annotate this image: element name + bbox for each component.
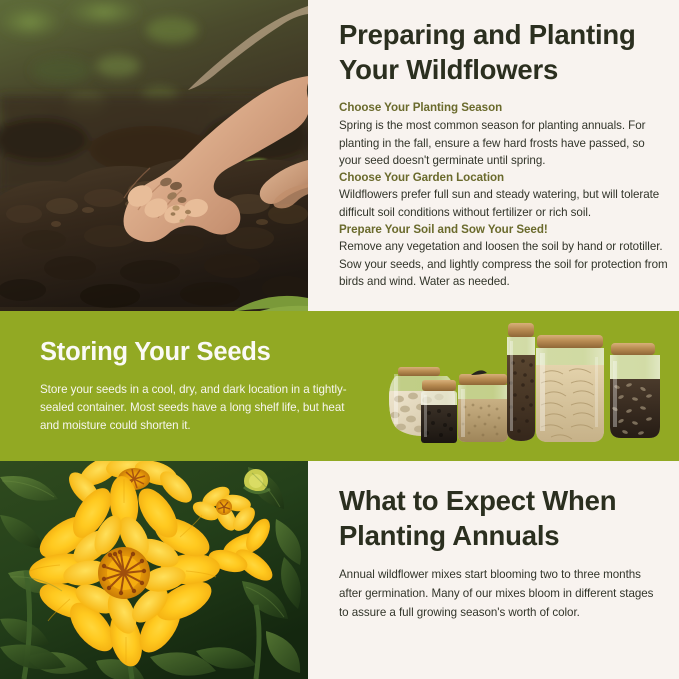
- jar-sunflower-seeds: [610, 343, 660, 443]
- body-planting-season: Spring is the most common season for pla…: [339, 117, 669, 170]
- jar-black-seeds: [421, 380, 457, 445]
- block-prepare-soil: Prepare Your Soil and Sow Your Seed! Rem…: [339, 222, 669, 291]
- what-to-expect-text-panel: What to Expect When Planting Annuals Ann…: [308, 461, 679, 679]
- block-garden-location: Choose Your Garden Location Wildflowers …: [339, 170, 669, 222]
- body-prepare-soil: Remove any vegetation and loosen the soi…: [339, 238, 669, 291]
- jar-tall-brown-seeds: [507, 323, 535, 445]
- storing-seeds-heading: Storing Your Seeds: [40, 337, 350, 368]
- yellow-coreopsis-flower-photo: [0, 461, 308, 679]
- section-what-to-expect: What to Expect When Planting Annuals Ann…: [0, 461, 679, 679]
- jar-large-flat-seeds: [536, 335, 604, 445]
- wildflower-planting-infographic: Preparing and Planting Your Wildflowers …: [0, 0, 679, 679]
- glass-jars-of-seeds-photo: [375, 317, 673, 457]
- storing-seeds-text-panel: Storing Your Seeds Store your seeds in a…: [40, 337, 350, 435]
- block-planting-season: Choose Your Planting Season Spring is th…: [339, 100, 669, 169]
- jar-fine-tan-seeds: [458, 370, 508, 445]
- subheading-garden-location: Choose Your Garden Location: [339, 170, 669, 186]
- what-to-expect-body: Annual wildflower mixes start blooming t…: [339, 566, 657, 622]
- section-storing-seeds: Storing Your Seeds Store your seeds in a…: [0, 311, 679, 461]
- hand-planting-seeds-in-soil-photo: [0, 0, 308, 311]
- storing-seeds-body: Store your seeds in a cool, dry, and dar…: [40, 381, 350, 435]
- body-garden-location: Wildflowers prefer full sun and steady w…: [339, 186, 669, 221]
- subheading-planting-season: Choose Your Planting Season: [339, 100, 669, 116]
- page-title: Preparing and Planting Your Wildflowers: [339, 18, 669, 87]
- what-to-expect-heading: What to Expect When Planting Annuals: [339, 484, 657, 553]
- preparing-planting-text-panel: Preparing and Planting Your Wildflowers …: [308, 0, 679, 311]
- subheading-prepare-soil: Prepare Your Soil and Sow Your Seed!: [339, 222, 669, 238]
- section-preparing-planting: Preparing and Planting Your Wildflowers …: [0, 0, 679, 311]
